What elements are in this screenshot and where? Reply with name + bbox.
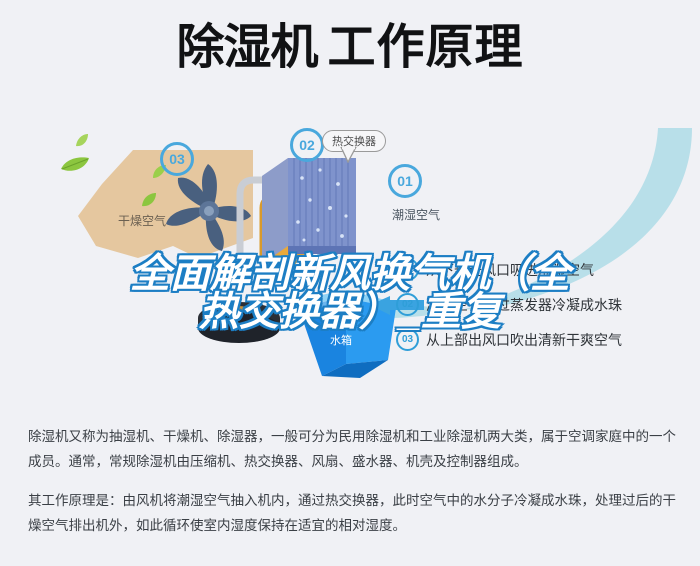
legend-item: 01 从下部进风口吸进潮湿空气: [396, 252, 696, 287]
legend-item: 02 潮湿空气经过蒸发器冷凝成水珠: [396, 287, 696, 322]
label-humid-air: 潮湿空气: [392, 206, 440, 223]
compressor-icon: [196, 298, 282, 344]
label-water-tank: 水箱: [330, 332, 352, 348]
legend-number: 01: [396, 258, 419, 281]
label-dry-air: 干燥空气: [118, 212, 166, 229]
legend-list: 01 从下部进风口吸进潮湿空气 02 潮湿空气经过蒸发器冷凝成水珠 03 从上部…: [396, 252, 696, 357]
page-title: 除湿机工作原理: [0, 24, 700, 72]
body-paragraph-2: 其工作原理是：由风机将潮湿空气抽入机内，通过热交换器，此时空气中的水分子冷凝成水…: [28, 488, 678, 538]
leaf-icon: [60, 156, 90, 174]
title-part2: 工作原理: [328, 21, 524, 74]
legend-text: 从下部进风口吸进潮湿空气: [426, 260, 594, 280]
legend-number: 03: [396, 328, 419, 351]
legend-text: 潮湿空气经过蒸发器冷凝成水珠: [426, 295, 622, 315]
legend-item: 03 从上部出风口吹出清新干爽空气: [396, 322, 696, 357]
badge-dry-air: 03: [160, 142, 194, 176]
legend-text: 从上部出风口吹出清新干爽空气: [426, 330, 622, 350]
title-part1: 除湿机: [176, 21, 317, 74]
body-paragraph-1: 除湿机又称为抽湿机、干燥机、除湿器，一般可分为民用除湿机和工业除湿机两大类，属于…: [28, 424, 678, 474]
legend-number: 02: [396, 293, 419, 316]
badge-humid-air: 01: [388, 164, 422, 198]
badge-heat-exchanger: 02: [290, 128, 324, 162]
callout-tail-icon: [340, 147, 358, 163]
heat-exchanger-coil: [258, 154, 378, 274]
article-body: 除湿机又称为抽湿机、干燥机、除湿器，一般可分为民用除湿机和工业除湿机两大类，属于…: [28, 424, 678, 538]
leaf-icon: [75, 134, 89, 148]
page-root: 除湿机工作原理: [0, 0, 700, 566]
title-text: 除湿机工作原理: [176, 24, 523, 72]
